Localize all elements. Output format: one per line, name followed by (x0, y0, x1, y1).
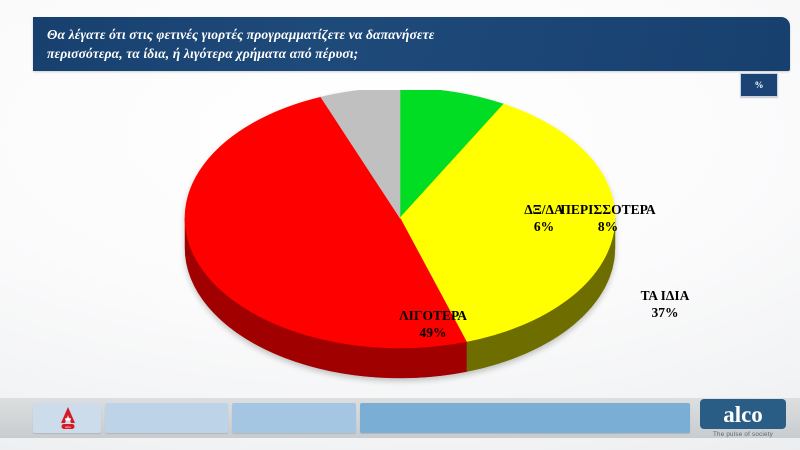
footer-box-2 (105, 403, 228, 433)
footer-box-3 (232, 403, 356, 433)
alco-tagline: The pulse of society (700, 431, 786, 438)
pie-chart-svg (150, 90, 650, 390)
red-a-logo-icon: alco (55, 406, 81, 431)
svg-text:alco: alco (65, 425, 71, 429)
slice-label-less-value: 49% (363, 325, 503, 342)
slice-label-dk: ΔΞ/ΔΑ 6% (484, 202, 604, 235)
slice-label-same-name: ΤΑ ΙΔΙΑ (605, 288, 725, 305)
slice-label-less-name: ΛΙΓΟΤΕΡΑ (363, 308, 503, 325)
slice-label-same-value: 37% (605, 305, 725, 322)
question-text: Θα λέγατε ότι στις φετινές γιορτές προγρ… (47, 25, 780, 63)
slice-label-dk-name: ΔΞ/ΔΑ (484, 202, 604, 219)
pie-chart: ΔΞ/ΔΑ 6% ΠΕΡΙΣΣΟΤΕΡΑ 8% ΤΑ ΙΔΙΑ 37% ΛΙΓΟ… (150, 90, 650, 390)
slice-label-less: ΛΙΓΟΤΕΡΑ 49% (363, 308, 503, 341)
alco-logo: alco (700, 399, 786, 429)
slice-label-dk-value: 6% (484, 219, 604, 236)
footer-box-4 (360, 403, 690, 433)
slide-canvas: Θα λέγατε ότι στις φετινές γιορτές προγρ… (0, 0, 800, 450)
alco-wordmark: alco (723, 403, 763, 426)
question-banner: Θα λέγατε ότι στις φετινές γιορτές προγρ… (33, 17, 790, 71)
slice-label-same: ΤΑ ΙΔΙΑ 37% (605, 288, 725, 321)
percent-unit-badge: % (740, 73, 778, 97)
